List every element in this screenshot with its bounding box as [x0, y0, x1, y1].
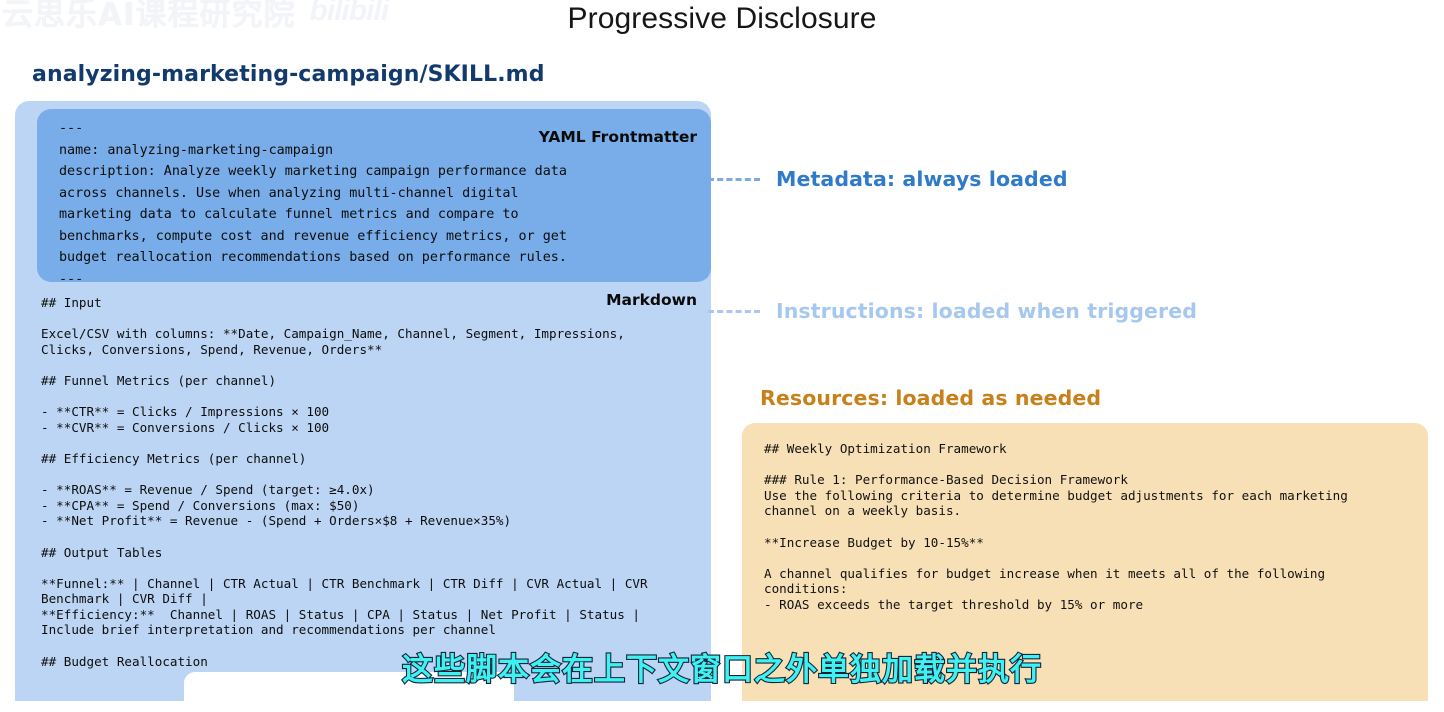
subtitle-caption: 这些脚本会在上下文窗口之外单独加载并执行 — [0, 644, 1444, 689]
file-path-heading: analyzing-marketing-campaign/SKILL.md — [32, 62, 545, 87]
markdown-body: ## Input Excel/CSV with columns: **Date,… — [41, 295, 701, 669]
resources-code: ## Weekly Optimization Framework ### Rul… — [764, 441, 1412, 613]
dashed-connector-icon — [708, 310, 760, 313]
annotation-instructions-label: Instructions: loaded when triggered — [776, 299, 1197, 323]
annotation-instructions: Instructions: loaded when triggered — [708, 299, 1197, 323]
annotation-resources-label: Resources: loaded as needed — [760, 386, 1101, 410]
annotation-metadata-label: Metadata: always loaded — [776, 167, 1068, 191]
skill-md-panel: --- name: analyzing-marketing-campaign d… — [15, 101, 711, 701]
yaml-frontmatter-block: --- name: analyzing-marketing-campaign d… — [37, 109, 711, 282]
page-title: Progressive Disclosure — [0, 2, 1444, 36]
annotation-metadata: Metadata: always loaded — [708, 167, 1068, 191]
markdown-code: ## Input Excel/CSV with columns: **Date,… — [41, 295, 701, 669]
dashed-connector-icon — [708, 178, 760, 181]
yaml-frontmatter-label: YAML Frontmatter — [539, 128, 697, 146]
